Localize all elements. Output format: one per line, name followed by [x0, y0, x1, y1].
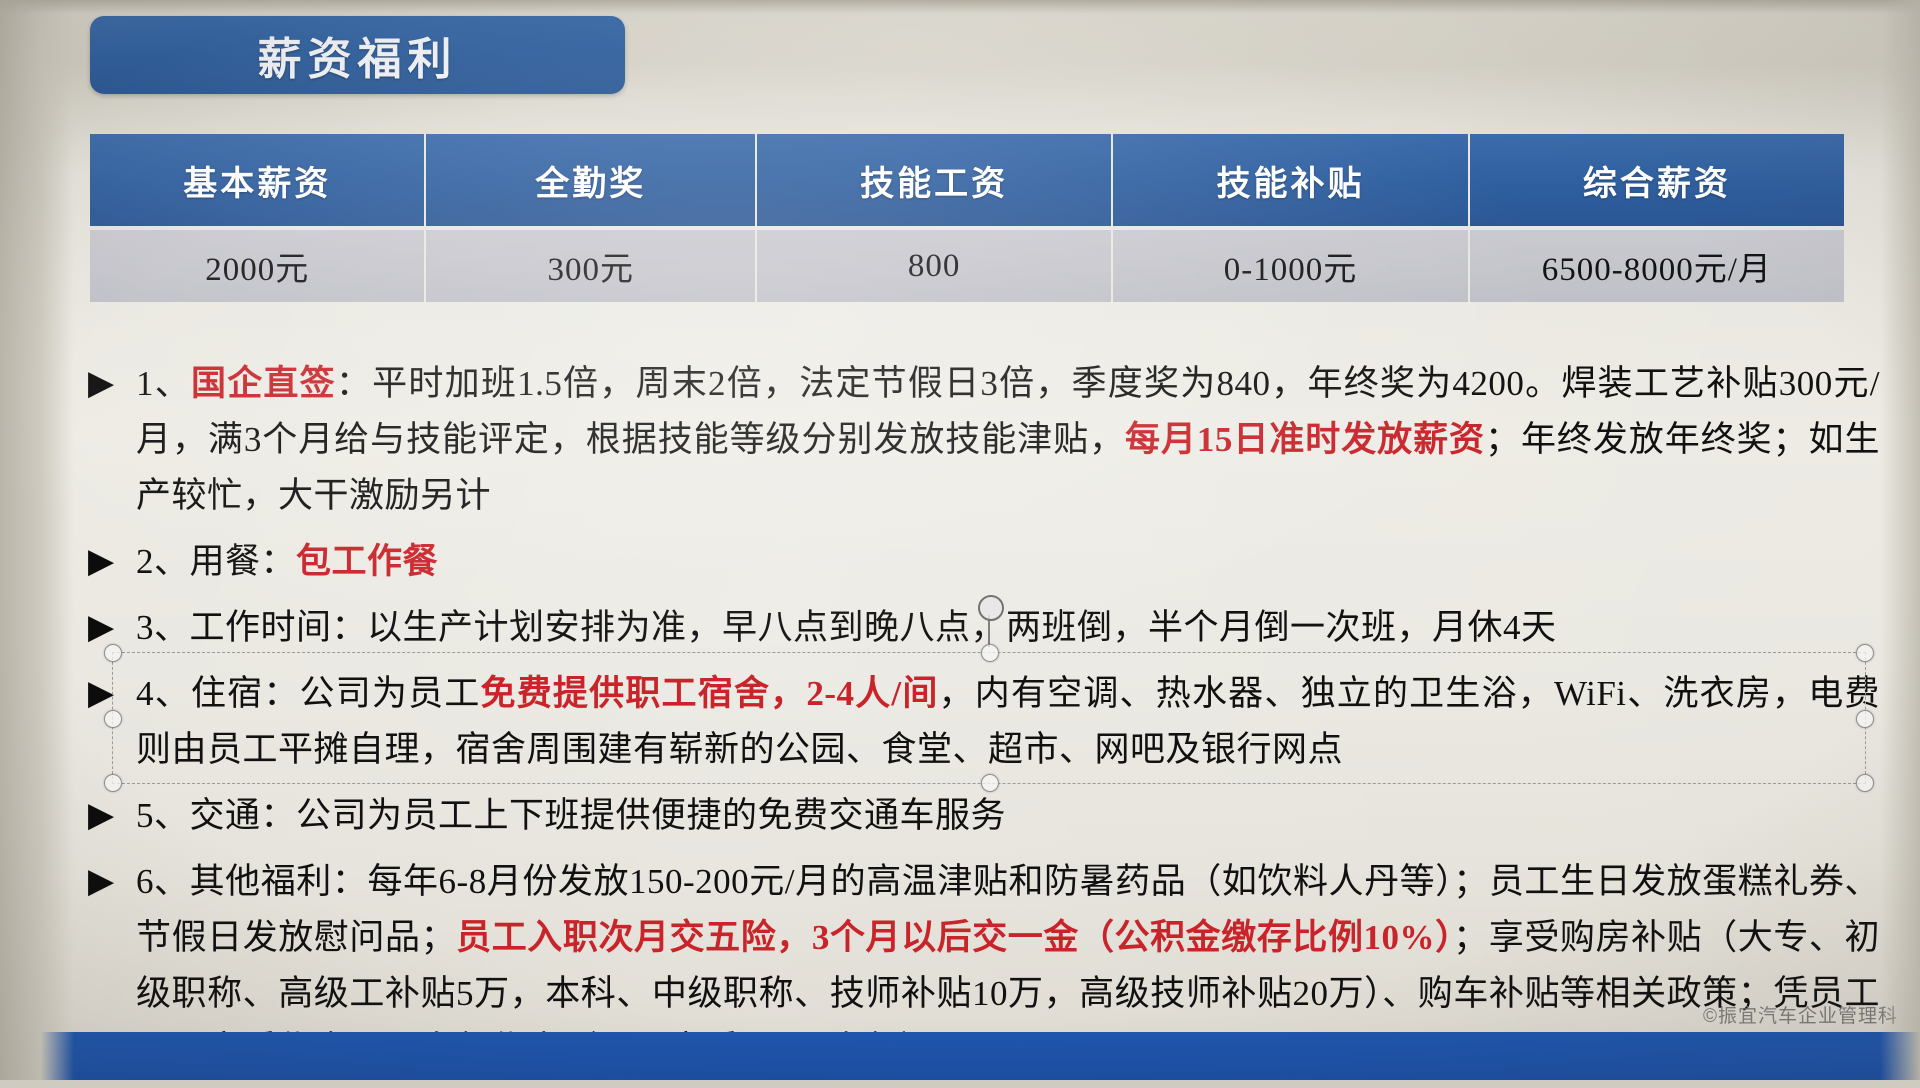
table-cell: 300元 [426, 230, 757, 302]
list-item-text: 4、住宿：公司为员工免费提供职工宿舍，2-4人/间，内有空调、热水器、独立的卫生… [136, 666, 1880, 778]
list-item-highlight: 免费提供职工宿舍，2-4人/间 [481, 674, 939, 713]
list-item-body-a: 以生产计划安排为准，早八点到晚八点，两班倒，半个月倒一次班，月休4天 [367, 608, 1557, 647]
benefits-list: ▶ 1、国企直签：平时加班1.5倍，周末2倍，法定节假日3倍，季度奖为840，年… [80, 356, 1880, 1088]
list-item-colon: ： [261, 542, 297, 581]
list-item-number: 2、 [136, 542, 190, 581]
list-item-number: 5、 [136, 796, 190, 835]
table-cell: 800 [757, 230, 1113, 302]
watermark: ©振宜汽车企业管理科 [1703, 1001, 1898, 1028]
table-header-cell: 综合薪资 [1470, 134, 1844, 226]
table-header-cell: 技能补贴 [1113, 134, 1469, 226]
list-item-label: 用餐 [190, 542, 261, 581]
list-item-body-a: 公司为员工上下班提供便捷的免费交通车服务 [296, 796, 1006, 835]
photo-edge-left [0, 0, 74, 1080]
list-item-text: 5、交通：公司为员工上下班提供便捷的免费交通车服务 [136, 788, 1880, 844]
triangle-bullet-icon: ▶ [80, 534, 136, 590]
photo-edge-top [0, 0, 1920, 14]
list-item-text: 3、工作时间：以生产计划安排为准，早八点到晚八点，两班倒，半个月倒一次班，月休4… [136, 600, 1880, 656]
list-item[interactable]: ▶ 3、工作时间：以生产计划安排为准，早八点到晚八点，两班倒，半个月倒一次班，月… [80, 600, 1880, 656]
table-header-cell: 技能工资 [757, 134, 1113, 226]
list-item[interactable]: ▶ 2、用餐：包工作餐 [80, 534, 1880, 590]
table-cell: 6500-8000元/月 [1470, 230, 1844, 302]
list-item-selected[interactable]: ▶ 4、住宿：公司为员工免费提供职工宿舍，2-4人/间，内有空调、热水器、独立的… [80, 666, 1880, 778]
list-item-label: 交通 [190, 796, 261, 835]
triangle-bullet-icon: ▶ [80, 356, 136, 412]
list-item-colon: ： [263, 674, 299, 713]
list-item-label: 住宿 [191, 674, 263, 713]
list-item-colon: ： [336, 364, 372, 403]
list-item-text: 2、用餐：包工作餐 [136, 534, 1880, 590]
slide-title-banner: 薪资福利 [90, 16, 625, 94]
slide-bottom-bar [0, 1032, 1920, 1080]
table-header-row: 基本薪资 全勤奖 技能工资 技能补贴 综合薪资 [90, 134, 1844, 226]
list-item-number: 1、 [136, 364, 191, 403]
list-item-number: 4、 [136, 674, 191, 713]
list-item-number: 3、 [136, 608, 190, 647]
list-item-number: 6、 [136, 862, 190, 901]
table-row: 2000元 300元 800 0-1000元 6500-8000元/月 [90, 230, 1844, 302]
table-cell: 0-1000元 [1113, 230, 1469, 302]
list-item[interactable]: ▶ 1、国企直签：平时加班1.5倍，周末2倍，法定节假日3倍，季度奖为840，年… [80, 356, 1880, 524]
list-item-text: 1、国企直签：平时加班1.5倍，周末2倍，法定节假日3倍，季度奖为840，年终奖… [136, 356, 1880, 524]
list-item-label: 工作时间 [190, 608, 332, 647]
table-header-cell: 基本薪资 [90, 134, 426, 226]
triangle-bullet-icon: ▶ [80, 666, 136, 722]
list-item[interactable]: ▶ 5、交通：公司为员工上下班提供便捷的免费交通车服务 [80, 788, 1880, 844]
list-item-label: 国企直签 [191, 364, 336, 403]
list-item-colon: ： [261, 796, 297, 835]
slide-canvas: 薪资福利 基本薪资 全勤奖 技能工资 技能补贴 综合薪资 2000元 300元 … [0, 0, 1920, 1080]
list-item-colon: ： [332, 608, 368, 647]
list-item-label: 其他福利 [190, 862, 332, 901]
list-item-highlight: 包工作餐 [296, 542, 438, 581]
page-title: 薪资福利 [258, 23, 458, 87]
photo-edge-right [1880, 0, 1920, 1080]
triangle-bullet-icon: ▶ [80, 788, 136, 844]
list-item-body-a: 公司为员工 [300, 674, 481, 713]
list-item-highlight: 员工入职次月交五险，3个月以后交一金（公积金缴存比例10%） [456, 918, 1453, 957]
salary-table: 基本薪资 全勤奖 技能工资 技能补贴 综合薪资 2000元 300元 800 0… [90, 134, 1844, 302]
triangle-bullet-icon: ▶ [80, 854, 136, 910]
triangle-bullet-icon: ▶ [80, 600, 136, 656]
table-cell: 2000元 [90, 230, 426, 302]
list-item-colon: ： [332, 862, 368, 901]
list-item-highlight: 每月15日准时发放薪资 [1125, 420, 1485, 459]
table-header-cell: 全勤奖 [426, 134, 757, 226]
